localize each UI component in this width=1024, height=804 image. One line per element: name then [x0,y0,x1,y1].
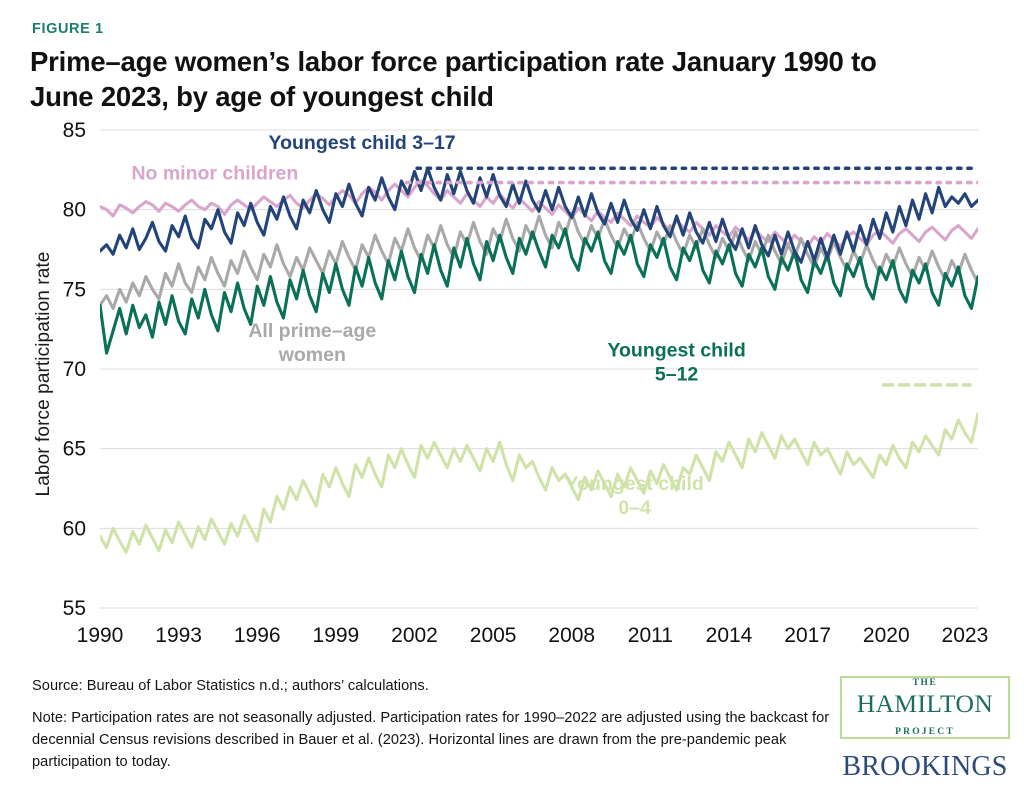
figure-page: FIGURE 1 Prime–age women’s labor force p… [0,0,1024,804]
series-annotation: Youngest child 3–17 [269,132,456,154]
logo-block: THE HAMILTON PROJECT BROOKINGS [840,676,1010,783]
series-annotation: 0–4 [618,497,651,519]
series-line [100,363,1024,553]
series-annotation: No minor children [131,162,298,184]
y-tick-label: 80 [63,199,86,222]
series-line [100,168,1024,324]
x-tick-label: 1990 [77,624,124,647]
x-tick-label: 1999 [313,624,360,647]
y-tick-label: 85 [63,119,86,142]
series-annotation: women [278,344,346,366]
y-axis-label: Labor force participation rate [33,224,55,524]
y-tick-label: 55 [63,597,86,620]
series-annotation: 5–12 [655,363,699,385]
hamilton-project-logo: THE HAMILTON PROJECT [840,676,1010,739]
x-tick-label: 1993 [155,624,202,647]
figure-label: FIGURE 1 [32,21,104,37]
series-annotation: All prime–age [248,320,376,342]
series-annotation: Youngest child [607,339,745,361]
brookings-logo: BROOKINGS [840,751,1010,783]
y-tick-label: 60 [63,517,86,540]
x-tick-label: 2020 [863,624,910,647]
hamilton-project-text: PROJECT [890,727,960,737]
x-tick-label: 2023 [942,624,989,647]
x-tick-label: 2017 [784,624,831,647]
y-tick-label: 70 [63,358,86,381]
x-tick-label: 2008 [548,624,595,647]
x-tick-label: 1996 [234,624,281,647]
y-tick-label: 65 [63,438,86,461]
x-tick-label: 2014 [706,624,753,647]
line-chart: 5560657075808519901993199619992002200520… [0,118,1024,668]
series-annotation: Youngest child [566,473,704,495]
page-title: Prime–age women’s labor force participat… [30,44,930,114]
series-line [100,229,1024,366]
x-tick-label: 2005 [470,624,517,647]
x-tick-label: 2002 [391,624,438,647]
hamilton-main-text: HAMILTON [848,692,1002,715]
y-tick-label: 75 [63,278,86,301]
hamilton-the-text: THE [908,678,943,688]
figure-note: Note: Participation rates are not season… [32,707,832,774]
footer: Source: Bureau of Labor Statistics n.d.;… [32,678,832,774]
source-note: Source: Bureau of Labor Statistics n.d.;… [32,678,832,694]
chart-container: Labor force participation rate 556065707… [0,118,1024,668]
x-tick-label: 2011 [628,624,673,647]
